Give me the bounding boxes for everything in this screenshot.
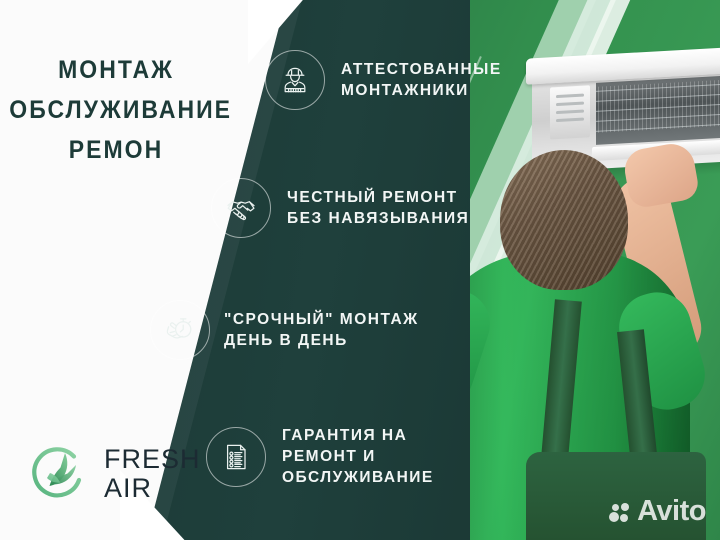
feature-line-3: ОБСЛУЖИВАНИЕ: [282, 467, 434, 488]
feature-line-1: ЧЕСТНЫЙ РЕМОНТ: [287, 187, 469, 208]
headline-line-3: РЕМОН: [9, 130, 222, 170]
hardhat-worker-icon: [265, 50, 325, 110]
feature-label: ГАРАНТИЯ НА РЕМОНТ И ОБСЛУЖИВАНИЕ: [282, 425, 434, 488]
feature-line-1: ГАРАНТИЯ НА: [282, 425, 434, 446]
feature-line-1: АТТЕСТОВАННЫЕ: [341, 59, 502, 80]
feature-line-2: БЕЗ НАВЯЗЫВАНИЯ: [287, 208, 469, 229]
stopwatch-in-hand-icon: [150, 300, 210, 360]
leaf-circle-icon: [30, 443, 92, 505]
avito-wordmark: Avito: [637, 497, 706, 526]
brand-name-line-2: AIR: [104, 474, 201, 503]
brand-logo: FRESH AIR: [30, 443, 201, 505]
advertisement-banner: МОНТАЖ ОБСЛУЖИВАНИЕ РЕМОН АТТЕСТОВАННЫЕ …: [0, 0, 720, 540]
brand-name: FRESH AIR: [104, 445, 201, 503]
headline: МОНТАЖ ОБСЛУЖИВАНИЕ РЕМОН: [9, 50, 222, 170]
hair-texture: [500, 150, 628, 290]
feature-item-honest-repair: ЧЕСТНЫЙ РЕМОНТ БЕЗ НАВЯЗЫВАНИЯ: [211, 178, 469, 238]
right-hand: [621, 140, 700, 209]
avito-watermark: Avito: [609, 497, 706, 526]
feature-line-2: МОНТАЖНИКИ: [341, 80, 502, 101]
feature-line-1: "СРОЧНЫЙ" МОНТАЖ: [224, 309, 419, 330]
feature-line-2: РЕМОНТ И: [282, 446, 434, 467]
feature-label: АТТЕСТОВАННЫЕ МОНТАЖНИКИ: [341, 59, 502, 101]
feature-item-certified-installers: АТТЕСТОВАННЫЕ МОНТАЖНИКИ: [265, 50, 502, 110]
brand-name-line-1: FRESH: [104, 445, 201, 474]
handshake-icon: [211, 178, 271, 238]
feature-item-urgent-installation: "СРОЧНЫЙ" МОНТАЖ ДЕНЬ В ДЕНЬ: [150, 300, 419, 360]
headline-line-2: ОБСЛУЖИВАНИЕ: [9, 90, 222, 130]
headline-line-1: МОНТАЖ: [9, 50, 222, 90]
feature-line-2: ДЕНЬ В ДЕНЬ: [224, 330, 419, 351]
feature-label: ЧЕСТНЫЙ РЕМОНТ БЕЗ НАВЯЗЫВАНИЯ: [287, 187, 469, 229]
feature-item-warranty: ГАРАНТИЯ НА РЕМОНТ И ОБСЛУЖИВАНИЕ: [206, 425, 434, 488]
checklist-document-icon: [206, 427, 266, 487]
avito-dots-icon: [609, 501, 631, 523]
feature-label: "СРОЧНЫЙ" МОНТАЖ ДЕНЬ В ДЕНЬ: [224, 309, 419, 351]
